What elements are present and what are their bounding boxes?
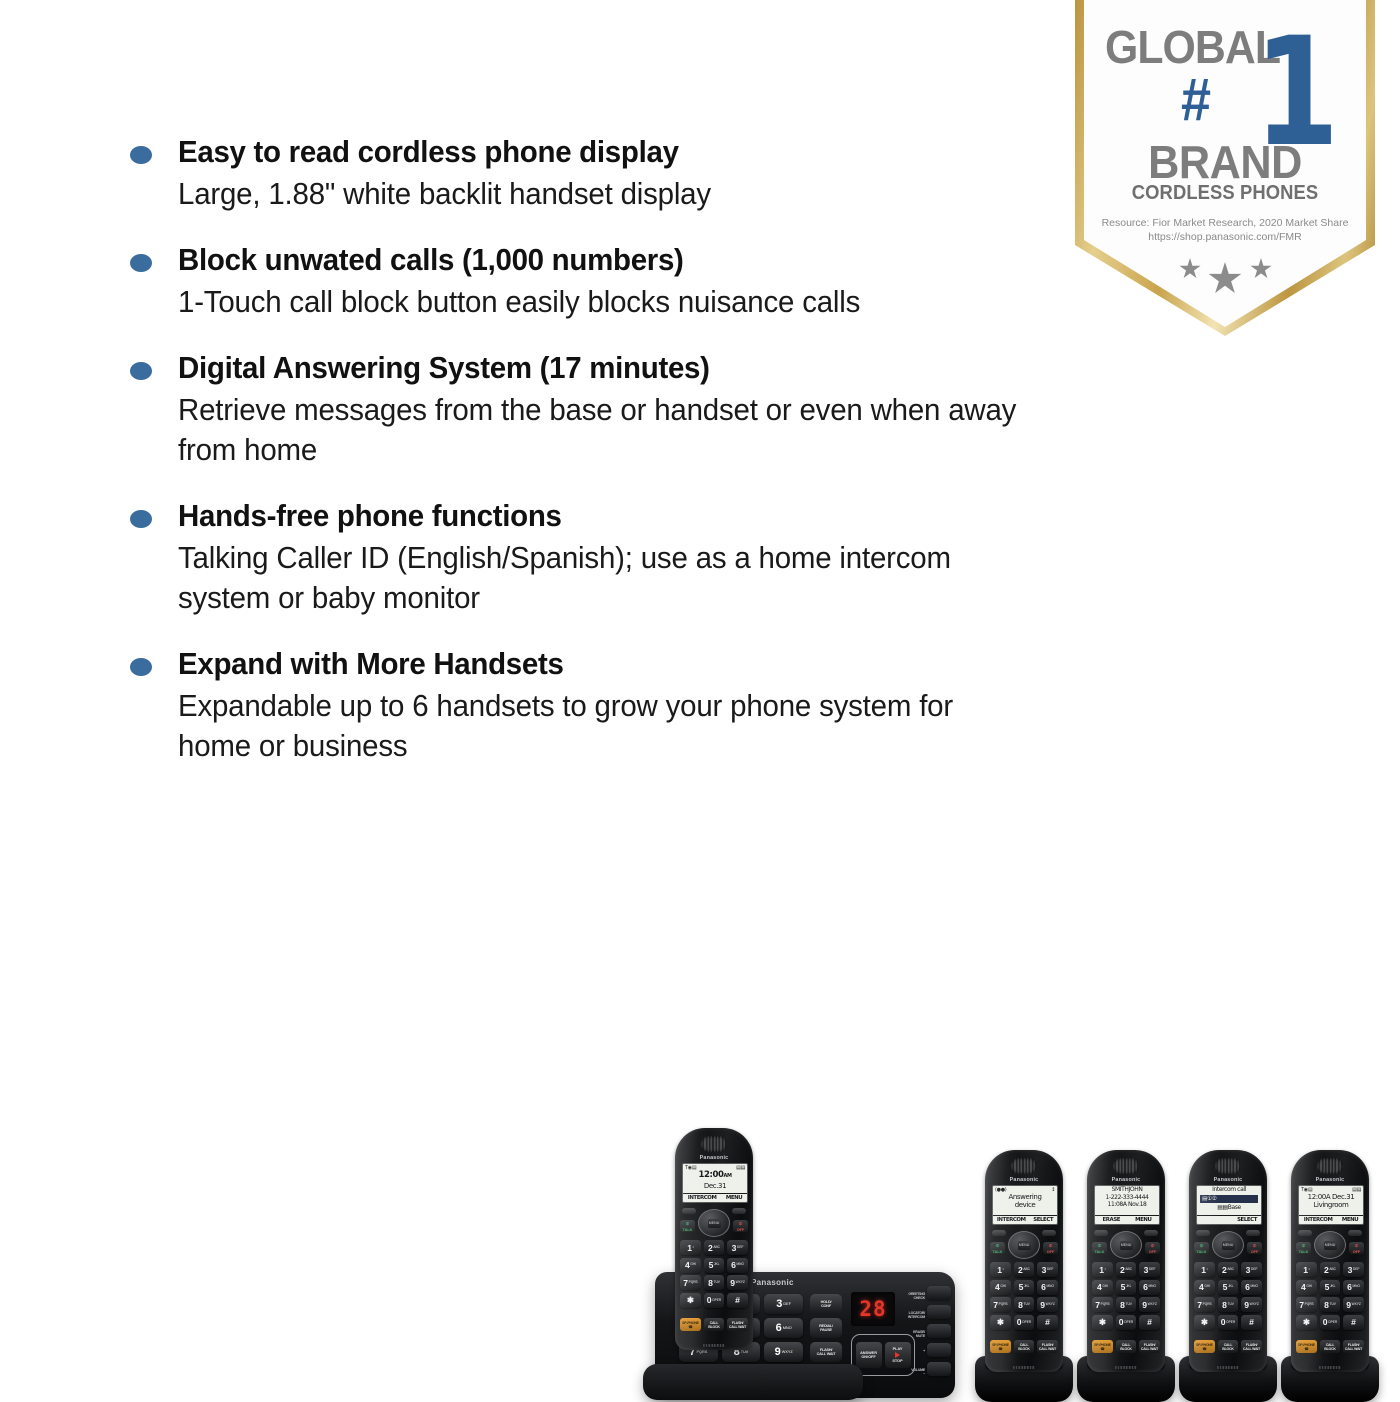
handset-key-#[interactable]: # — [1139, 1315, 1160, 1330]
handset-function-keys: SP-PHONE☎CALLBLOCKFLASH/CALL WAIT — [1194, 1340, 1262, 1353]
handset-key-2[interactable]: 2ABC — [1320, 1262, 1341, 1277]
handset-key-9[interactable]: 9WXYZ — [1037, 1297, 1058, 1312]
handset-key-7[interactable]: 7PQRS — [990, 1297, 1011, 1312]
base-right-label: ERASE/MUTE — [899, 1330, 925, 1338]
base-key-3[interactable]: 3DEF — [764, 1294, 803, 1314]
handset-key-1[interactable]: 1• — [680, 1240, 701, 1255]
handset-spphone-button[interactable]: SP-PHONE☎ — [1296, 1340, 1317, 1353]
lcd-date: Dec.31 — [683, 1182, 747, 1190]
handset-gloss-overlay — [1087, 1150, 1120, 1372]
handset-key-2[interactable]: 2ABC — [704, 1240, 725, 1255]
handset-lcd-display: T◉▤▤▤12:00A Dec.31LivingroomINTERCOMMENU — [1298, 1185, 1364, 1225]
lcd-softkey-right[interactable]: MENU — [1135, 1217, 1151, 1223]
handset-key-6[interactable]: 6MNO — [727, 1258, 748, 1273]
message-counter-value: 28 — [859, 1297, 886, 1321]
play-stop-button[interactable]: PLAYSTOP — [885, 1342, 911, 1368]
left-softkey-button[interactable] — [1094, 1230, 1108, 1236]
handset-spphone-button[interactable]: SP-PHONE☎ — [1092, 1340, 1113, 1353]
navigation-cluster: MENU✆TALK✆OFF — [985, 1228, 1063, 1260]
handset-spphone-button[interactable]: SP-PHONE☎ — [1194, 1340, 1215, 1353]
handset-key-6[interactable]: 6MNO — [1037, 1280, 1058, 1295]
handset-call-button[interactable]: CALLBLOCK — [1116, 1340, 1137, 1353]
handset-body: PanasonicT◉▤▤▤12:00AMDec.31INTERCOMMENUM… — [675, 1128, 753, 1350]
base-right-label: GREETINGCHECK — [899, 1292, 925, 1300]
right-softkey-button[interactable] — [732, 1208, 746, 1214]
earpiece-speaker-icon — [701, 1136, 727, 1152]
lcd-line-3: ▤▤Base — [1197, 1204, 1261, 1212]
handset-key-2[interactable]: 2ABC — [1116, 1262, 1137, 1277]
volume-up-button[interactable] — [927, 1343, 951, 1357]
lcd-softkey-right[interactable]: SELECT — [1033, 1217, 1053, 1223]
handset-key-7[interactable]: 7PQRS — [680, 1275, 701, 1290]
handset-key-8[interactable]: 8TUV — [1014, 1297, 1035, 1312]
feature-description: Retrieve messages from the base or hands… — [178, 390, 1025, 470]
handset-function-keys: SP-PHONE☎CALLBLOCKFLASH/CALL WAIT — [990, 1340, 1058, 1353]
handset-function-keys: SP-PHONE☎CALLBLOCKFLASH/CALL WAIT — [1092, 1340, 1160, 1353]
handset-key-✱[interactable]: ✱ — [1296, 1315, 1317, 1330]
base-stand-plate — [643, 1364, 863, 1400]
main-handset: PanasonicT◉▤▤▤12:00AMDec.31INTERCOMMENUM… — [675, 1128, 753, 1350]
handset-body: PanasonicSMITHJOHN1-222-333-444411:08A N… — [1087, 1150, 1165, 1372]
talk-button[interactable]: ✆TALK — [680, 1220, 695, 1232]
microphone-icon — [1217, 1366, 1239, 1369]
handset-lcd-display: SMITHJOHN1-222-333-444411:08A Nov.18ERAS… — [1094, 1185, 1160, 1225]
feature-item: Easy to read cordless phone display Larg… — [130, 132, 1070, 214]
handset-key-3[interactable]: 3DEF — [1343, 1262, 1364, 1277]
handset-gloss-overlay — [1291, 1150, 1324, 1372]
handset-keypad: 1•2ABC3DEF4GHI5JKL6MNO7PQRS8TUV9WXYZ✱0OP… — [1296, 1262, 1364, 1330]
lcd-line-2: Livingroom — [1299, 1201, 1363, 1209]
handset-key-0[interactable]: 0OPER — [1218, 1315, 1239, 1330]
feature-title: Easy to read cordless phone display — [178, 132, 1025, 172]
badge-content: GLOBAL # 1 BRAND CORDLESS PHONES Resourc… — [1075, 0, 1375, 336]
navigator-center-button[interactable]: MENU — [1222, 1241, 1235, 1250]
microphone-icon — [1319, 1366, 1341, 1369]
lcd-softkey-bar: INTERCOMMENU — [1299, 1215, 1363, 1224]
navigator-ring[interactable]: MENU — [698, 1209, 730, 1237]
earpiece-speaker-icon — [1215, 1158, 1241, 1174]
handset-body: PanasonicIntercom call▤①②▤▤BaseSELECTMEN… — [1189, 1150, 1267, 1372]
feature-list: Easy to read cordless phone display Larg… — [130, 132, 1070, 792]
right-softkey-button[interactable] — [1348, 1230, 1362, 1236]
base-right-label: + — [899, 1349, 925, 1353]
star-icon — [1250, 258, 1272, 280]
feature-title: Block unwated calls (1,000 numbers) — [178, 240, 1025, 280]
handset-key-5[interactable]: 5JKL — [1320, 1280, 1341, 1295]
handset-key-7[interactable]: 7PQRS — [1296, 1297, 1317, 1312]
handset-key-#[interactable]: # — [1343, 1315, 1364, 1330]
microphone-icon — [1013, 1366, 1035, 1369]
handset-spphone-button[interactable]: SP-PHONE☎ — [680, 1318, 701, 1331]
feature-item: Hands-free phone functions Talking Calle… — [130, 496, 1070, 618]
star-icon — [1179, 258, 1201, 280]
handset-body: PanasonicT◉▤▤▤12:00A Dec.31LivingroomINT… — [1291, 1150, 1369, 1372]
base-hold-button[interactable]: HOLD/CONF — [810, 1294, 842, 1314]
handset-key-9[interactable]: 9WXYZ — [1139, 1297, 1160, 1312]
handset-key-4[interactable]: 4GHI — [1296, 1280, 1317, 1295]
lcd-highlighted-row: ▤①② — [1200, 1195, 1258, 1203]
talk-button[interactable]: ✆TALK — [1092, 1242, 1107, 1254]
lcd-softkey-right[interactable]: MENU — [726, 1195, 742, 1201]
handset-key-5[interactable]: 5JKL — [1116, 1280, 1137, 1295]
handset-brand-label: Panasonic — [1189, 1177, 1267, 1183]
lcd-line-2: 1-222-333-4444 — [1095, 1194, 1159, 1202]
handset-spphone-button[interactable]: SP-PHONE☎ — [990, 1340, 1011, 1353]
earpiece-speaker-icon — [1317, 1158, 1343, 1174]
lcd-softkey-bar: INTERCOMMENU — [683, 1193, 747, 1202]
handset-call-button[interactable]: CALLBLOCK — [1320, 1340, 1341, 1353]
handset-gloss-overlay — [1189, 1150, 1222, 1372]
locator-intercom-button[interactable] — [927, 1305, 951, 1319]
earpiece-speaker-icon — [1113, 1158, 1139, 1174]
off-button[interactable]: ✆OFF — [1145, 1242, 1160, 1254]
badge-brand-text: BRAND — [1084, 138, 1366, 186]
lcd-line-3: 11:08A Nov.18 — [1095, 1201, 1159, 1209]
base-right-keys — [927, 1286, 951, 1376]
handset-gloss-overlay — [675, 1128, 708, 1350]
base-redial-button[interactable]: REDIAL/PAUSE — [810, 1318, 842, 1338]
badge-top-row: GLOBAL # 1 — [1075, 22, 1375, 76]
handset-key-9[interactable]: 9WXYZ — [1241, 1297, 1262, 1312]
navigation-cluster: MENU✆TALK✆OFF — [1087, 1228, 1165, 1260]
handset-key-9[interactable]: 9WXYZ — [727, 1275, 748, 1290]
handset-brand-label: Panasonic — [985, 1177, 1063, 1183]
handset-key-8[interactable]: 8TUV — [1116, 1297, 1137, 1312]
handset-3: PanasonicSMITHJOHN1-222-333-444411:08A N… — [1087, 1150, 1165, 1372]
right-softkey-button[interactable] — [1246, 1230, 1260, 1236]
lcd-softkey-bar: INTERCOMSELECT — [993, 1215, 1057, 1224]
handset-key-3[interactable]: 3DEF — [1037, 1262, 1058, 1277]
feature-item: Expand with More Handsets Expandable up … — [130, 644, 1070, 766]
handset-key-✱[interactable]: ✱ — [1194, 1315, 1215, 1330]
handset-key-9[interactable]: 9WXYZ — [1343, 1297, 1364, 1312]
handset-key-1[interactable]: 1• — [990, 1262, 1011, 1277]
handset-key-1[interactable]: 1• — [1194, 1262, 1215, 1277]
handset-key-0[interactable]: 0OPER — [1116, 1315, 1137, 1330]
feature-description: Expandable up to 6 handsets to grow your… — [178, 686, 1025, 766]
lcd-softkey-left[interactable]: INTERCOM — [688, 1195, 717, 1201]
answer-on-off-button[interactable]: ANSWERON/OFF — [856, 1342, 882, 1368]
left-softkey-button[interactable] — [992, 1230, 1006, 1236]
bullet-icon — [130, 658, 152, 676]
handset-key-2[interactable]: 2ABC — [1014, 1262, 1035, 1277]
navigator-ring[interactable]: MENU — [1110, 1231, 1142, 1259]
off-button[interactable]: ✆OFF — [1043, 1242, 1058, 1254]
handset-key-#[interactable]: # — [1241, 1315, 1262, 1330]
feature-title: Hands-free phone functions — [178, 496, 1025, 536]
feature-description: 1-Touch call block button easily blocks … — [178, 282, 1025, 322]
star-icon — [1208, 262, 1242, 296]
handset-key-8[interactable]: 8TUV — [1218, 1297, 1239, 1312]
handset-keypad: 1•2ABC3DEF4GHI5JKL6MNO7PQRS8TUV9WXYZ✱0OP… — [1092, 1262, 1160, 1330]
volume-down-button[interactable] — [927, 1362, 951, 1376]
handset-lcd-display: T◉▤▤▤12:00AMDec.31INTERCOMMENU — [682, 1163, 748, 1203]
handset-key-4[interactable]: 4GHI — [1194, 1280, 1215, 1295]
handset-call-button[interactable]: CALLBLOCK — [1014, 1340, 1035, 1353]
right-softkey-button[interactable] — [1144, 1230, 1158, 1236]
handset-key-7[interactable]: 7PQRS — [1092, 1297, 1113, 1312]
handset-call-button[interactable]: CALLBLOCK — [704, 1318, 725, 1331]
handset-body: Panasonic(●●)↕AnsweringdeviceINTERCOMSEL… — [985, 1150, 1063, 1372]
handset-key-5[interactable]: 5JKL — [1218, 1280, 1239, 1295]
bullet-icon — [130, 146, 152, 164]
off-button[interactable]: ✆OFF — [1349, 1242, 1364, 1254]
handset-key-#[interactable]: # — [1037, 1315, 1058, 1330]
handset-function-keys: SP-PHONE☎CALLBLOCKFLASH/CALL WAIT — [1296, 1340, 1364, 1353]
lcd-softkey-left[interactable]: INTERCOM — [997, 1217, 1026, 1223]
handset-key-7[interactable]: 7PQRS — [1194, 1297, 1215, 1312]
lcd-softkey-left[interactable]: ERASE — [1103, 1217, 1121, 1223]
handset-key-✱[interactable]: ✱ — [680, 1293, 701, 1308]
handset-key-0[interactable]: 0OPER — [1320, 1315, 1341, 1330]
handset-flash-button[interactable]: FLASH/CALL WAIT — [1037, 1340, 1058, 1353]
earpiece-speaker-icon — [1011, 1158, 1037, 1174]
handset-5: PanasonicT◉▤▤▤12:00A Dec.31LivingroomINT… — [1291, 1150, 1369, 1372]
global-number-one-brand-badge: GLOBAL # 1 BRAND CORDLESS PHONES Resourc… — [1075, 0, 1375, 336]
talk-button[interactable]: ✆TALK — [1296, 1242, 1311, 1254]
handset-key-4[interactable]: 4GHI — [1092, 1280, 1113, 1295]
lcd-softkey-left[interactable]: INTERCOM — [1304, 1217, 1333, 1223]
left-softkey-button[interactable] — [1298, 1230, 1312, 1236]
feature-item: Block unwated calls (1,000 numbers) 1-To… — [130, 240, 1070, 322]
lcd-line-1: Intercom call — [1197, 1186, 1261, 1194]
handset-key-6[interactable]: 6MNO — [1343, 1280, 1364, 1295]
handset-key-✱[interactable]: ✱ — [1092, 1315, 1113, 1330]
microphone-icon — [1115, 1366, 1137, 1369]
right-softkey-button[interactable] — [1042, 1230, 1056, 1236]
microphone-icon — [703, 1344, 725, 1347]
navigator-ring[interactable]: MENU — [1212, 1231, 1244, 1259]
navigator-ring[interactable]: MENU — [1008, 1231, 1040, 1259]
navigator-center-button[interactable]: MENU — [1324, 1241, 1337, 1250]
navigation-cluster: MENU✆TALK✆OFF — [675, 1206, 753, 1238]
lcd-line-2: device — [993, 1201, 1057, 1209]
handset-key-3[interactable]: 3DEF — [1139, 1262, 1160, 1277]
lcd-line-1: SMITHJOHN — [1095, 1186, 1159, 1194]
handset-flash-button[interactable]: FLASH/CALL WAIT — [727, 1318, 748, 1331]
handset-flash-button[interactable]: FLASH/CALL WAIT — [1139, 1340, 1160, 1353]
handset-key-0[interactable]: 0OPER — [1014, 1315, 1035, 1330]
navigator-center-button[interactable]: MENU — [1120, 1241, 1133, 1250]
handset-brand-label: Panasonic — [1291, 1177, 1369, 1183]
navigator-center-button[interactable]: MENU — [708, 1219, 721, 1228]
bullet-icon — [130, 510, 152, 528]
handset-key-1[interactable]: 1• — [1092, 1262, 1113, 1277]
handset-keypad: 1•2ABC3DEF4GHI5JKL6MNO7PQRS8TUV9WXYZ✱0OP… — [680, 1240, 748, 1308]
badge-category-text: CORDLESS PHONES — [1087, 182, 1363, 205]
handset-keypad: 1•2ABC3DEF4GHI5JKL6MNO7PQRS8TUV9WXYZ✱0OP… — [990, 1262, 1058, 1330]
lcd-softkey-bar: ERASEMENU — [1095, 1215, 1159, 1224]
navigator-center-button[interactable]: MENU — [1018, 1241, 1031, 1250]
base-flash-button[interactable]: FLASH/CALL WAIT — [810, 1342, 842, 1362]
product-image-group: Panasonic 1•2ABC3DEF4GHI5JKL6MNO7PQRS8TU… — [655, 1128, 1395, 1400]
lcd-softkey-right[interactable]: SELECT — [1237, 1217, 1257, 1223]
left-softkey-button[interactable] — [682, 1208, 696, 1214]
lcd-softkey-right[interactable]: MENU — [1342, 1217, 1358, 1223]
bullet-icon — [130, 254, 152, 272]
handset-function-keys: SP-PHONE☎CALLBLOCKFLASH/CALL WAIT — [680, 1318, 748, 1331]
lcd-status-icons: T◉▤▤▤ — [1299, 1186, 1363, 1193]
handset-key-4[interactable]: 4GHI — [990, 1280, 1011, 1295]
lcd-status-icons: (●●)↕ — [993, 1186, 1057, 1193]
navigator-ring[interactable]: MENU — [1314, 1231, 1346, 1259]
feature-description: Talking Caller ID (English/Spanish); use… — [178, 538, 1025, 618]
handset-key-6[interactable]: 6MNO — [1139, 1280, 1160, 1295]
handset-lcd-display: Intercom call▤①②▤▤BaseSELECT — [1196, 1185, 1262, 1225]
left-softkey-button[interactable] — [1196, 1230, 1210, 1236]
handset-key-#[interactable]: # — [727, 1293, 748, 1308]
badge-stars — [1075, 256, 1375, 296]
handset-brand-label: Panasonic — [1087, 1177, 1165, 1183]
base-key-6[interactable]: 6MNO — [764, 1318, 803, 1338]
feature-title: Digital Answering System (17 minutes) — [178, 348, 1025, 388]
message-counter-display: 28 — [851, 1292, 895, 1326]
lcd-softkey-bar: SELECT — [1197, 1215, 1261, 1224]
feature-description: Large, 1.88" white backlit handset displ… — [178, 174, 1025, 214]
off-button[interactable]: ✆OFF — [733, 1220, 748, 1232]
handset-lcd-display: (●●)↕AnsweringdeviceINTERCOMSELECT — [992, 1185, 1058, 1225]
handset-key-5[interactable]: 5JKL — [1014, 1280, 1035, 1295]
handset-key-4[interactable]: 4GHI — [680, 1258, 701, 1273]
handset-key-0[interactable]: 0OPER — [704, 1293, 725, 1308]
base-right-label: LOCATOR/INTERCOM — [899, 1311, 925, 1319]
badge-resource-text: Resource: Fior Market Research, 2020 Mar… — [1075, 216, 1375, 244]
handset-key-2[interactable]: 2ABC — [1218, 1262, 1239, 1277]
talk-button[interactable]: ✆TALK — [990, 1242, 1005, 1254]
off-button[interactable]: ✆OFF — [1247, 1242, 1262, 1254]
handset-brand-label: Panasonic — [675, 1155, 753, 1161]
handset-key-5[interactable]: 5JKL — [704, 1258, 725, 1273]
handset-key-8[interactable]: 8TUV — [1320, 1297, 1341, 1312]
badge-resource-line2: https://shop.panasonic.com/FMR — [1075, 230, 1375, 244]
lcd-time: 12:00AM — [683, 1171, 747, 1182]
talk-button[interactable]: ✆TALK — [1194, 1242, 1209, 1254]
base-brand-label: Panasonic — [751, 1278, 794, 1287]
handset-2: Panasonic(●●)↕AnsweringdeviceINTERCOMSEL… — [985, 1150, 1063, 1372]
handset-keypad: 1•2ABC3DEF4GHI5JKL6MNO7PQRS8TUV9WXYZ✱0OP… — [1194, 1262, 1262, 1330]
handset-key-1[interactable]: 1• — [1296, 1262, 1317, 1277]
lcd-line-1: Answering — [993, 1193, 1057, 1201]
handset-key-8[interactable]: 8TUV — [704, 1275, 725, 1290]
handset-4: PanasonicIntercom call▤①②▤▤BaseSELECTMEN… — [1189, 1150, 1267, 1372]
badge-hash-text: # — [1181, 70, 1209, 130]
base-right-label: VOLUME− — [899, 1368, 925, 1376]
lcd-line-1: 12:00A Dec.31 — [1299, 1193, 1363, 1201]
handset-key-3[interactable]: 3DEF — [1241, 1262, 1262, 1277]
handset-key-6[interactable]: 6MNO — [1241, 1280, 1262, 1295]
handset-call-button[interactable]: CALLBLOCK — [1218, 1340, 1239, 1353]
handset-flash-button[interactable]: FLASH/CALL WAIT — [1241, 1340, 1262, 1353]
navigation-cluster: MENU✆TALK✆OFF — [1189, 1228, 1267, 1260]
feature-title: Expand with More Handsets — [178, 644, 1025, 684]
handset-gloss-overlay — [985, 1150, 1018, 1372]
handset-key-3[interactable]: 3DEF — [727, 1240, 748, 1255]
erase-mute-button[interactable] — [927, 1324, 951, 1338]
base-key-9[interactable]: 9WXYZ — [764, 1342, 803, 1362]
bullet-icon — [130, 362, 152, 380]
badge-resource-line1: Resource: Fior Market Research, 2020 Mar… — [1075, 216, 1375, 230]
greeting-check-button[interactable] — [927, 1286, 951, 1300]
feature-item: Digital Answering System (17 minutes) Re… — [130, 348, 1070, 470]
navigation-cluster: MENU✆TALK✆OFF — [1291, 1228, 1369, 1260]
handset-key-✱[interactable]: ✱ — [990, 1315, 1011, 1330]
handset-flash-button[interactable]: FLASH/CALL WAIT — [1343, 1340, 1364, 1353]
